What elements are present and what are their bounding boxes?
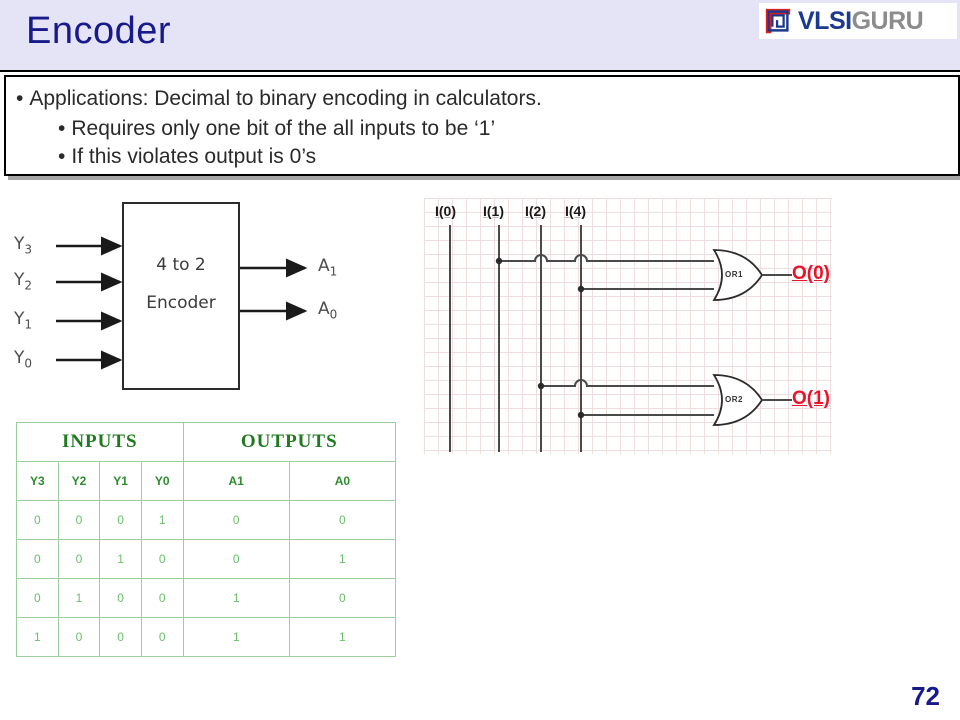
spiral-square-icon xyxy=(763,6,793,36)
encoder-logic-circuit: I(0) I(1) I(2) I(4) OR1 OR2 O(0) O(1) xyxy=(424,198,832,454)
table-column-header-row: Y3 Y2 Y1 Y0 A1 A0 xyxy=(17,462,396,501)
input-label-y1: Y1 xyxy=(14,309,32,331)
table-row: 0 1 0 0 1 0 xyxy=(17,579,396,618)
cell: 0 xyxy=(141,540,183,579)
bullet-level2-1: •If this violates output is 0’s xyxy=(58,145,316,169)
circuit-input-label-i4: I(4) xyxy=(565,203,586,219)
logo-text-guru: GURU xyxy=(852,7,924,35)
table-row: 0 0 0 1 0 0 xyxy=(17,501,396,540)
logo-text-vlsi: VLSI xyxy=(798,7,852,35)
col-header-y2: Y2 xyxy=(58,462,100,501)
bullet-marker: • xyxy=(58,117,65,140)
col-header-y3: Y3 xyxy=(17,462,59,501)
bullet-level2-0: •Requires only one bit of the all inputs… xyxy=(58,117,495,141)
cell: 0 xyxy=(100,501,142,540)
cell: 0 xyxy=(183,540,289,579)
cell: 1 xyxy=(141,501,183,540)
group-header-inputs: INPUTS xyxy=(17,423,184,462)
circuit-input-label-i0: I(0) xyxy=(435,203,456,219)
table-row: 0 0 1 0 0 1 xyxy=(17,540,396,579)
bullet-level1-0: •Applications: Decimal to binary encodin… xyxy=(16,87,542,111)
cell: 0 xyxy=(289,501,395,540)
col-header-a0: A0 xyxy=(289,462,395,501)
cell: 0 xyxy=(141,618,183,657)
page-title: Encoder xyxy=(26,10,171,53)
output-label-a1: A1 xyxy=(318,256,337,278)
cell: 0 xyxy=(17,501,59,540)
bullet-text: Requires only one bit of the all inputs … xyxy=(71,117,495,140)
cell: 1 xyxy=(289,540,395,579)
circuit-input-label-i2: I(2) xyxy=(525,203,546,219)
cell: 1 xyxy=(289,618,395,657)
circuit-wires xyxy=(424,198,832,454)
cell: 0 xyxy=(58,501,100,540)
cell: 0 xyxy=(289,579,395,618)
cell: 1 xyxy=(183,579,289,618)
cell: 0 xyxy=(100,579,142,618)
gate-label-or1: OR1 xyxy=(725,270,743,279)
cell: 0 xyxy=(183,501,289,540)
cell: 0 xyxy=(141,579,183,618)
group-header-outputs: OUTPUTS xyxy=(183,423,395,462)
cell: 0 xyxy=(58,540,100,579)
table-row: 1 0 0 0 1 1 xyxy=(17,618,396,657)
output-label-a0: A0 xyxy=(318,299,337,321)
gate-label-or2: OR2 xyxy=(725,395,743,404)
header-divider xyxy=(0,70,960,72)
encoder-truth-table: INPUTS OUTPUTS Y3 Y2 Y1 Y0 A1 A0 0 0 0 1… xyxy=(16,422,396,657)
logo-wordmark: VLSIGURU xyxy=(798,9,923,34)
col-header-y0: Y0 xyxy=(141,462,183,501)
table-group-header-row: INPUTS OUTPUTS xyxy=(17,423,396,462)
encoder-box-line2: Encoder xyxy=(122,293,240,313)
page-number: 72 xyxy=(911,681,940,712)
cell: 1 xyxy=(183,618,289,657)
circuit-output-label-o0: O(0) xyxy=(792,263,830,285)
col-header-y1: Y1 xyxy=(100,462,142,501)
circuit-input-label-i1: I(1) xyxy=(483,203,504,219)
cell: 0 xyxy=(58,618,100,657)
bullet-text: If this violates output is 0’s xyxy=(71,145,316,168)
cell: 0 xyxy=(17,579,59,618)
col-header-a1: A1 xyxy=(183,462,289,501)
content-box: •Applications: Decimal to binary encodin… xyxy=(4,75,960,176)
bullet-text: Applications: Decimal to binary encoding… xyxy=(29,87,541,110)
encoder-block-diagram: 4 to 2 Encoder Y3 Y2 Y1 Y0 A1 A0 xyxy=(0,190,400,405)
input-label-y3: Y3 xyxy=(14,234,32,256)
cell: 1 xyxy=(100,540,142,579)
cell: 0 xyxy=(100,618,142,657)
bullet-marker: • xyxy=(16,87,23,110)
cell: 1 xyxy=(58,579,100,618)
bullet-marker: • xyxy=(58,145,65,168)
input-label-y0: Y0 xyxy=(14,348,32,370)
input-label-y2: Y2 xyxy=(14,270,32,292)
vlsiguru-logo: VLSIGURU xyxy=(759,3,957,39)
cell: 1 xyxy=(17,618,59,657)
encoder-box-line1: 4 to 2 xyxy=(122,255,240,275)
circuit-output-label-o1: O(1) xyxy=(792,388,830,410)
cell: 0 xyxy=(17,540,59,579)
